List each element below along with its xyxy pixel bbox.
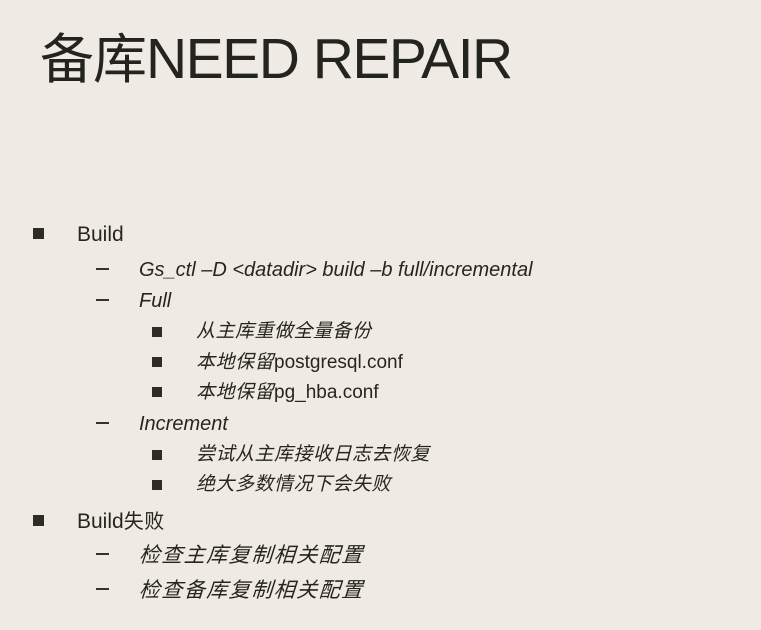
list-item-label-latin: Build — [77, 510, 124, 533]
list-item-label: Gs_ctl –D <datadir> build –b full/increm… — [139, 255, 533, 286]
page-title-cjk: 备库 — [40, 28, 146, 91]
list-item: Increment — [0, 409, 761, 440]
page-title-latin: NEED REPAIR — [146, 27, 512, 91]
list-item-label: Build — [77, 218, 124, 251]
list-item: Full — [0, 286, 761, 317]
list-item-label-latin: postgresql.conf — [274, 352, 403, 373]
list-item-label: 尝试从主库接收日志去恢复 — [196, 440, 430, 470]
square-bullet-icon — [152, 450, 162, 460]
list-item-label-latin: pg_hba.conf — [274, 382, 379, 403]
list-item: 绝大多数情况下会失败 — [0, 470, 761, 500]
square-bullet-icon — [33, 228, 44, 239]
square-bullet-icon — [152, 327, 162, 337]
square-bullet-icon — [33, 515, 44, 526]
page-title: 备库NEED REPAIR — [40, 22, 512, 97]
square-bullet-icon — [152, 480, 162, 490]
dash-bullet-icon — [96, 268, 109, 270]
list-item-label: 检查主库复制相关配置 — [138, 540, 365, 571]
list-item: Gs_ctl –D <datadir> build –b full/increm… — [0, 255, 761, 286]
square-bullet-icon — [152, 357, 162, 367]
dash-bullet-icon — [96, 422, 109, 424]
dash-bullet-icon — [96, 553, 109, 555]
list-item-label: 检查备库复制相关配置 — [138, 575, 365, 606]
square-bullet-icon — [152, 387, 162, 397]
list-item: 本地保留pg_hba.conf — [0, 377, 761, 407]
slide-canvas: 备库NEED REPAIR Build Gs_ctl –D <datadir> … — [0, 0, 761, 630]
list-item: Build失败 — [0, 505, 761, 538]
list-item-label: 绝大多数情况下会失败 — [196, 470, 391, 500]
dash-bullet-icon — [96, 299, 109, 301]
dash-bullet-icon — [96, 588, 109, 590]
list-item: 检查主库复制相关配置 — [0, 540, 761, 571]
list-item: 检查备库复制相关配置 — [0, 575, 761, 606]
list-item: 尝试从主库接收日志去恢复 — [0, 440, 761, 470]
list-item: 从主库重做全量备份 — [0, 317, 761, 347]
list-item-label: Full — [139, 286, 171, 317]
list-item-label-cjk: 失败 — [124, 509, 165, 533]
list-item-label-cjk: 本地保留 — [196, 381, 274, 403]
list-item: Build — [0, 218, 761, 251]
list-item-label: Increment — [139, 409, 228, 440]
outline-body: Build Gs_ctl –D <datadir> build –b full/… — [0, 214, 761, 606]
list-item-label-cjk: 本地保留 — [196, 351, 274, 373]
list-item-label: 从主库重做全量备份 — [196, 317, 372, 347]
list-item: 本地保留postgresql.conf — [0, 347, 761, 377]
